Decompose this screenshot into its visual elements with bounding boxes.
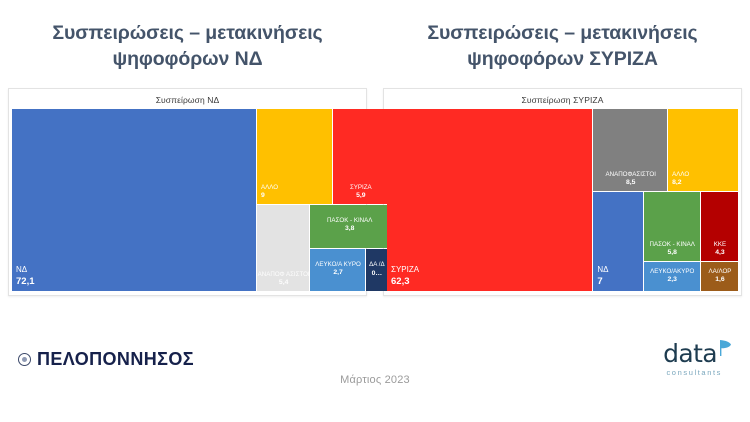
treemap-card-syriza: Συσπείρωση ΣΥΡΙΖΑ ΣΥΡΙΖΑ 62,3 ΑΝΑΠΟΦΑΣΙΣ…	[383, 88, 742, 296]
dc-logo-top: data	[663, 341, 732, 366]
page-title-left: Συσπειρώσεις – μετακινήσεις ψηφοφόρων ΝΔ	[26, 21, 349, 72]
cell-value: 4,3	[715, 249, 724, 258]
treemap-row-blank-nd: ΛΕΥΚΟ/Α ΚΥΡΟ 2,7 ΔΑ /Δ 0…	[310, 249, 388, 291]
cell-label: ΣΥΡΙΖΑ	[350, 184, 372, 192]
treemap-row-top-syriza: ΑΝΑΠΟΦΑΣΙΣΤΟΙ 8,5 ΑΛΛΟ 8,2	[593, 109, 738, 191]
treemap-cell-undecided[interactable]: ΑΝΑΠΟΦΑΣΙΣΤΟΙ 8,5	[593, 109, 667, 191]
cell-label: ΑΝΑΠΟΦΑΣΙΣΤΟΙ	[605, 171, 655, 179]
treemap-cell-pasok[interactable]: ΠΑΣΟΚ - ΚΙΝΑΛ 3,8	[310, 205, 388, 248]
cell-label: ΠΑΣΟΚ - ΚΙΝΑΛ	[327, 217, 372, 225]
titles-row: Συσπειρώσεις – μετακινήσεις ψηφοφόρων ΝΔ…	[0, 0, 750, 88]
treemap-cell-other-small[interactable]: ΔΑ /Δ 0…	[366, 249, 388, 291]
treemap-nd: ΝΔ 72,1 ΑΛΛΟ 9 ΣΥΡΙΖΑ	[12, 109, 363, 291]
cell-label: ΔΑ /Δ	[369, 261, 385, 269]
treemap-cell-undecided[interactable]: ΑΝΑΠΟΦ ΑΣΙΣΤΟΙ 5,4	[257, 205, 309, 291]
cell-value: 8,2	[672, 179, 735, 188]
cell-value: 2,3	[668, 276, 677, 285]
cell-label: ΑΛΛΟ	[672, 171, 735, 179]
cell-value: 62,3	[391, 276, 589, 288]
treemap-subgroup-pasok-blank: ΠΑΣΟΚ - ΚΙΝΑΛ 5,8 ΛΕΥΚΟ/ΑΚΥΡΟ 2,3	[644, 192, 700, 291]
treemap-cell-nd[interactable]: ΝΔ 7	[593, 192, 642, 291]
chart-title-syriza: Συσπείρωση ΣΥΡΙΖΑ	[387, 91, 738, 109]
treemap-row-bottom-nd: ΑΝΑΠΟΦ ΑΣΙΣΤΟΙ 5,4 ΠΑΣΟΚ - ΚΙΝΑΛ 3,8	[257, 205, 388, 291]
cell-value: 7	[597, 276, 639, 288]
charts-row: Συσπείρωση ΝΔ ΝΔ 72,1 ΑΛΛΟ 9	[0, 88, 750, 306]
treemap-cell-syriza[interactable]: ΣΥΡΙΖΑ 5,9	[333, 109, 388, 204]
treemap-cell-allo[interactable]: ΑΛΛΟ 8,2	[668, 109, 738, 191]
treemap-cell-kke[interactable]: ΚΚΕ 4,3	[701, 192, 738, 261]
cell-value: 5,9	[356, 192, 365, 201]
cell-value: 3,8	[345, 225, 354, 234]
treemap-cell-pasok[interactable]: ΠΑΣΟΚ - ΚΙΝΑΛ 5,8	[644, 192, 700, 261]
cell-value: 2,7	[333, 269, 342, 278]
treemap-row-bottom-syriza: ΝΔ 7 ΠΑΣΟΚ - ΚΙΝΑΛ 5,8 ΛΕΥΚΟ/ΑΚΥΡΟ	[593, 192, 738, 291]
dc-wordmark: data	[663, 341, 717, 366]
cell-label: ΛΑ/ΛΟΡ	[709, 268, 732, 276]
chart-wrap-left: Συσπείρωση ΝΔ ΝΔ 72,1 ΑΛΛΟ 9	[0, 88, 375, 306]
treemap-cell-blank[interactable]: ΛΕΥΚΟ/ΑΚΥΡΟ 2,3	[644, 262, 700, 291]
data-consultants-logo: data consultants	[663, 341, 732, 377]
chart-wrap-right: Συσπείρωση ΣΥΡΙΖΑ ΣΥΡΙΖΑ 62,3 ΑΝΑΠΟΦΑΣΙΣ…	[375, 88, 750, 306]
cell-value: 8,5	[626, 179, 635, 188]
publisher-logo: ΠΕΛΟΠΟΝΝΗΣΟΣ	[18, 349, 194, 370]
treemap-subgroup-nd: ΠΑΣΟΚ - ΚΙΝΑΛ 3,8 ΛΕΥΚΟ/Α ΚΥΡΟ 2,7	[310, 205, 388, 291]
treemap-card-nd: Συσπείρωση ΝΔ ΝΔ 72,1 ΑΛΛΟ 9	[8, 88, 367, 296]
cell-label: ΑΛΛΟ	[261, 184, 329, 192]
cell-label: ΚΚΕ	[714, 241, 726, 249]
treemap-cell-other-small[interactable]: ΛΑ/ΛΟΡ 1,6	[701, 262, 738, 291]
treemap-cell-allo[interactable]: ΑΛΛΟ 9	[257, 109, 332, 204]
cell-value: 9	[261, 192, 329, 201]
treemap-row-top-nd: ΑΛΛΟ 9 ΣΥΡΙΖΑ 5,9	[257, 109, 388, 204]
page-title-right: Συσπειρώσεις – μετακινήσεις ψηφοφόρων ΣΥ…	[401, 21, 724, 72]
treemap-right-group-nd: ΑΛΛΟ 9 ΣΥΡΙΖΑ 5,9 ΑΝΑΠΟΦ ΑΣΙΣΤΟΙ	[257, 109, 388, 291]
infographic-page: Συσπειρώσεις – μετακινήσεις ψηφοφόρων ΝΔ…	[0, 0, 750, 422]
treemap-syriza: ΣΥΡΙΖΑ 62,3 ΑΝΑΠΟΦΑΣΙΣΤΟΙ 8,5 ΑΛΛΟ	[387, 109, 738, 291]
publisher-name: ΠΕΛΟΠΟΝΝΗΣΟΣ	[37, 349, 194, 370]
treemap-cell-nd[interactable]: ΝΔ 72,1	[12, 109, 256, 291]
cell-label: ΛΕΥΚΟ/Α ΚΥΡΟ	[315, 261, 361, 269]
cell-value: 5,8	[668, 249, 677, 258]
cell-value: 0…	[372, 270, 383, 279]
treemap-right-group-syriza: ΑΝΑΠΟΦΑΣΙΣΤΟΙ 8,5 ΑΛΛΟ 8,2 ΝΔ	[593, 109, 738, 291]
cell-label: ΝΔ	[597, 265, 639, 276]
report-date: Μάρτιος 2023	[0, 374, 750, 386]
cell-label: ΝΔ	[16, 265, 253, 276]
flag-arrow-icon	[718, 339, 732, 362]
cell-label: ΑΝΑΠΟΦ ΑΣΙΣΤΟΙ	[258, 271, 310, 279]
cell-value: 5,4	[279, 279, 288, 288]
title-col-left: Συσπειρώσεις – μετακινήσεις ψηφοφόρων ΝΔ	[0, 0, 375, 88]
title-col-right: Συσπειρώσεις – μετακινήσεις ψηφοφόρων ΣΥ…	[375, 0, 750, 88]
chart-title-nd: Συσπείρωση ΝΔ	[12, 91, 363, 109]
peloponnisos-mark-icon	[18, 353, 31, 366]
footer: ΠΕΛΟΠΟΝΝΗΣΟΣ Μάρτιος 2023 data consultan…	[0, 306, 750, 422]
treemap-cell-syriza-main[interactable]: ΣΥΡΙΖΑ 62,3	[387, 109, 592, 291]
cell-label: ΣΥΡΙΖΑ	[391, 265, 589, 276]
cell-label: ΛΕΥΚΟ/ΑΚΥΡΟ	[650, 268, 694, 276]
treemap-subgroup-kke-la: ΚΚΕ 4,3 ΛΑ/ΛΟΡ 1,6	[701, 192, 738, 291]
cell-label: ΠΑΣΟΚ - ΚΙΝΑΛ	[650, 241, 695, 249]
cell-value: 72,1	[16, 276, 253, 288]
treemap-cell-blank[interactable]: ΛΕΥΚΟ/Α ΚΥΡΟ 2,7	[310, 249, 364, 291]
cell-value: 1,6	[715, 276, 724, 285]
